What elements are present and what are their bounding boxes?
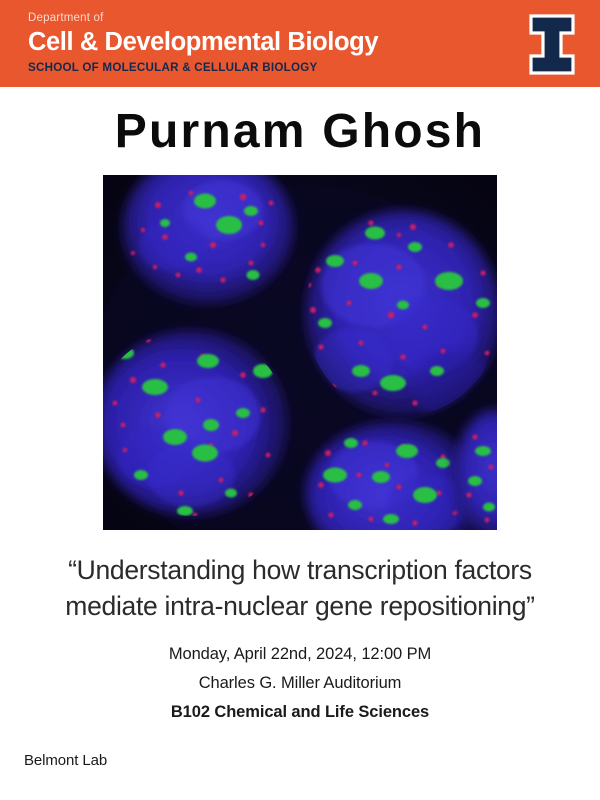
header-text-block: Department of Cell & Developmental Biolo… <box>28 11 378 75</box>
microscopy-figure <box>103 175 497 530</box>
event-details: Monday, April 22nd, 2024, 12:00 PM Charl… <box>0 640 600 727</box>
illinois-block-i-logo-icon <box>529 14 575 75</box>
lab-name-footer: Belmont Lab <box>24 752 107 769</box>
event-venue: Charles G. Miller Auditorium <box>0 669 600 698</box>
department-header-banner: Department of Cell & Developmental Biolo… <box>0 0 600 87</box>
department-of-label: Department of <box>28 11 378 26</box>
department-name-title: Cell & Developmental Biology <box>28 27 378 57</box>
event-building: B102 Chemical and Life Sciences <box>0 698 600 727</box>
talk-title: “Understanding how transcription factors… <box>22 552 578 624</box>
speaker-name-heading: Purnam Ghosh <box>0 104 600 160</box>
school-subtitle: SCHOOL OF MOLECULAR & CELLULAR BIOLOGY <box>28 60 378 75</box>
event-datetime: Monday, April 22nd, 2024, 12:00 PM <box>0 640 600 669</box>
